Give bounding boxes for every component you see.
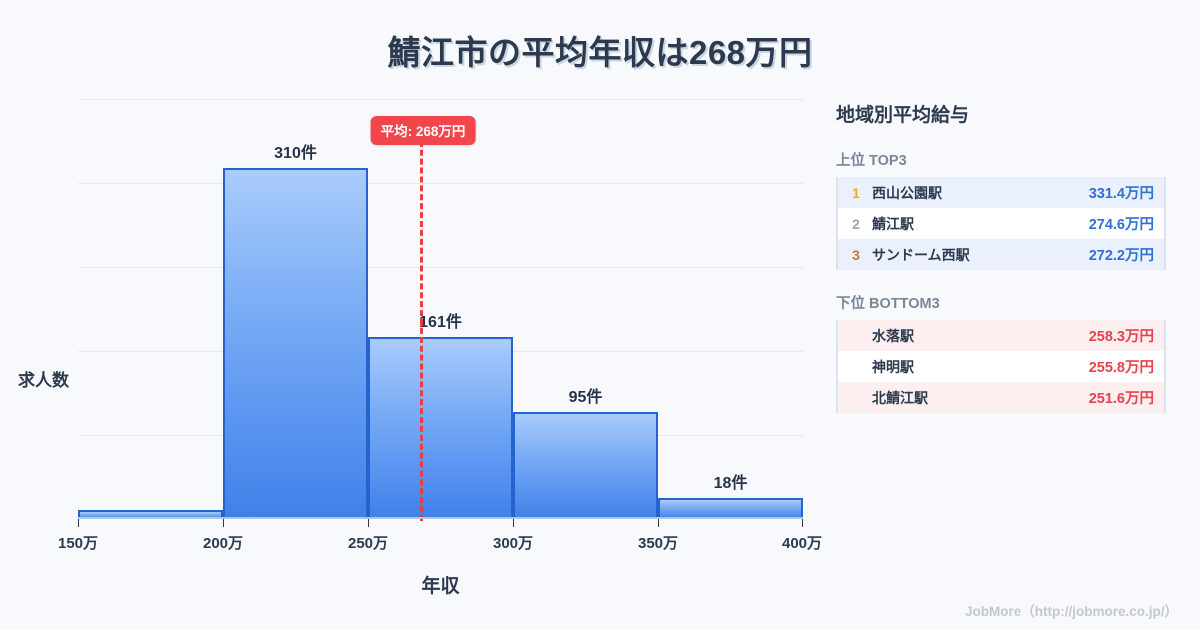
bar-value-label: 18件 <box>714 469 748 493</box>
x-axis-title: 年収 <box>78 571 803 598</box>
top3-table: 1 西山公園駅 331.4万円 2 鯖江駅 274.6万円 3 サンドーム西駅 … <box>836 177 1166 270</box>
x-axis-tick <box>513 519 514 527</box>
station-name: サンドーム西駅 <box>866 245 1089 265</box>
average-line: 平均: 268万円 <box>420 123 423 521</box>
histogram-bin: 310件 <box>223 99 368 519</box>
x-axis-tick-label: 350万 <box>638 532 678 553</box>
x-axis-tick <box>368 519 369 527</box>
page-title: 鯖江市の平均年収は268万円 <box>0 26 1200 74</box>
histogram-bar <box>223 168 368 519</box>
histogram-bin <box>78 99 223 519</box>
y-axis-title: 求人数 <box>18 366 69 391</box>
x-axis-line <box>78 517 803 519</box>
table-row[interactable]: 2 鯖江駅 274.6万円 <box>838 208 1164 239</box>
table-row[interactable]: 1 西山公園駅 331.4万円 <box>838 177 1164 208</box>
histogram-chart: 求人数 年収 310件 161件 95件 18件 <box>0 88 820 558</box>
x-axis-tick <box>802 519 803 527</box>
salary-value: 331.4万円 <box>1089 182 1154 203</box>
bottom3-table: 水落駅 258.3万円 神明駅 255.8万円 北鯖江駅 251.6万円 <box>836 320 1166 413</box>
bar-value-label: 95件 <box>569 383 603 407</box>
salary-value: 274.6万円 <box>1089 213 1154 234</box>
station-name: 神明駅 <box>866 357 1089 377</box>
histogram-bin: 95件 <box>513 99 658 519</box>
footer-watermark: JobMore（http://jobmore.co.jp/） <box>965 600 1178 620</box>
x-axis-tick <box>223 519 224 527</box>
station-name: 北鯖江駅 <box>866 388 1089 408</box>
station-name: 鯖江駅 <box>866 214 1089 234</box>
rank-number: 2 <box>846 216 866 232</box>
table-row[interactable]: 神明駅 255.8万円 <box>838 351 1164 382</box>
salary-value: 272.2万円 <box>1089 244 1154 265</box>
x-axis-tick-label: 400万 <box>782 532 822 553</box>
bottom3-section-header: 下位 BOTTOM3 <box>836 292 1166 313</box>
rank-number: 3 <box>846 247 866 263</box>
regional-salary-panel: 地域別平均給与 上位 TOP3 1 西山公園駅 331.4万円 2 鯖江駅 27… <box>836 100 1166 435</box>
average-badge: 平均: 268万円 <box>371 116 476 145</box>
x-axis-tick-label: 250万 <box>348 532 388 553</box>
station-name: 西山公園駅 <box>866 183 1089 203</box>
histogram-bar <box>658 498 803 519</box>
x-axis-tick-label: 200万 <box>203 532 243 553</box>
histogram-bar <box>513 412 658 519</box>
rank-number: 1 <box>846 185 866 201</box>
top3-section-header: 上位 TOP3 <box>836 149 1166 170</box>
salary-value: 251.6万円 <box>1089 387 1154 408</box>
salary-value: 258.3万円 <box>1089 325 1154 346</box>
table-row[interactable]: 水落駅 258.3万円 <box>838 320 1164 351</box>
table-row[interactable]: 3 サンドーム西駅 272.2万円 <box>838 239 1164 270</box>
table-row[interactable]: 北鯖江駅 251.6万円 <box>838 382 1164 413</box>
histogram-bar <box>368 337 513 519</box>
station-name: 水落駅 <box>866 326 1089 346</box>
histogram-bin: 18件 <box>658 99 803 519</box>
panel-title: 地域別平均給与 <box>836 100 1166 127</box>
x-axis-tick <box>658 519 659 527</box>
histogram-bin: 161件 <box>368 99 513 519</box>
bar-value-label: 310件 <box>274 139 317 163</box>
bar-value-label: 161件 <box>419 308 462 332</box>
x-axis-tick <box>78 519 79 527</box>
x-axis-tick-label: 150万 <box>58 532 98 553</box>
x-axis-tick-label: 300万 <box>493 532 533 553</box>
plot-area: 310件 161件 95件 18件 平均: 268万円 150万 200万 25… <box>78 99 803 519</box>
salary-value: 255.8万円 <box>1089 356 1154 377</box>
